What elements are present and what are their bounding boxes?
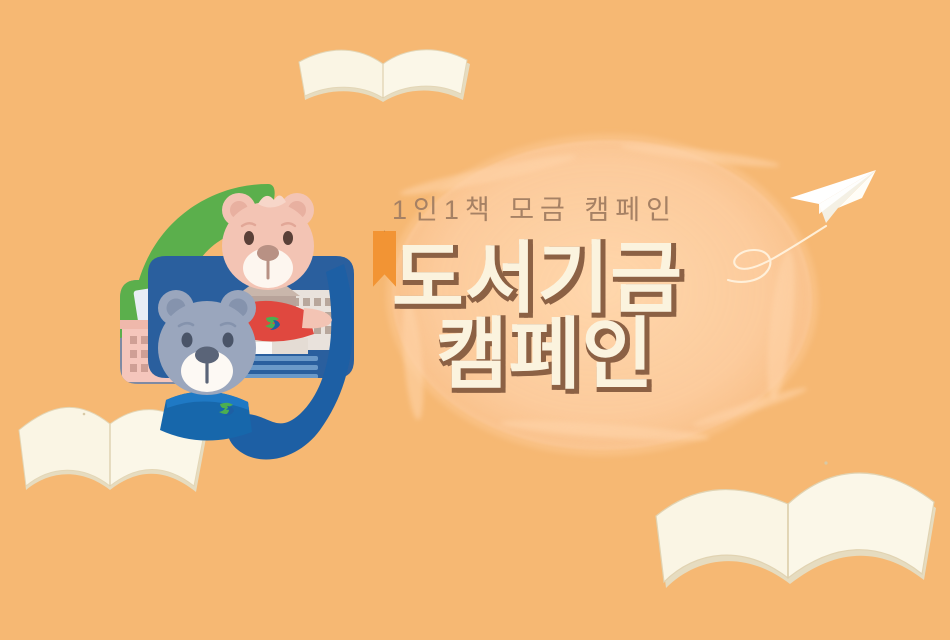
open-book-icon: [648, 438, 948, 630]
page-title: 도서기금 캠페인: [392, 240, 812, 393]
banner-subtitle: 1인1책 모금 캠페인: [392, 196, 812, 226]
campaign-emblem: [108, 168, 398, 468]
title-line-2: 캠페인: [436, 316, 812, 392]
open-book-icon: [295, 38, 475, 120]
gray-bear-mascot: [158, 290, 256, 441]
banner-text-block: 1인1책 모금 캠페인 도서기금 캠페인: [392, 196, 812, 393]
campaign-banner: 1인1책 모금 캠페인 도서기금 캠페인: [0, 0, 950, 640]
title-line-1: 도서기금: [392, 240, 812, 316]
